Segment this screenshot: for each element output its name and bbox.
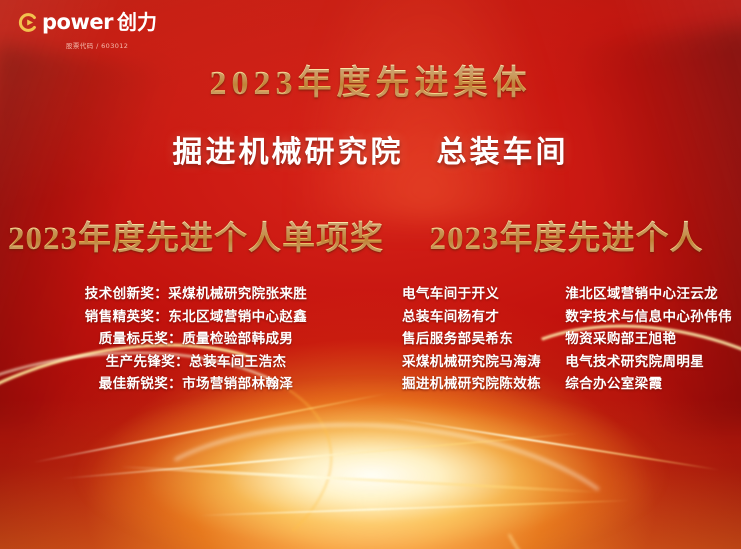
light-streak — [33, 393, 387, 464]
person-name: 电气技术研究院周明星 — [565, 351, 741, 374]
collective-winners: 掘进机械研究院 总装车间 — [0, 132, 741, 174]
winner-lists: 技术创新奖：采煤机械研究院张来胜 销售精英奖：东北区域营销中心赵鑫 质量标兵奖：… — [0, 283, 741, 396]
section-heading-right-wrap: 2023年度先进个人 — [392, 216, 741, 262]
glow-haze — [0, 399, 741, 549]
list-item: 质量标兵奖：质量检验部韩成男 — [0, 328, 392, 351]
list-item: 技术创新奖：采煤机械研究院张来胜 — [0, 283, 392, 306]
light-streak — [200, 499, 630, 516]
table-row: 电气车间于开义 淮北区域营销中心汪云龙 — [392, 283, 741, 306]
swirl-ribbon — [112, 407, 651, 549]
brand-wordmark-cn: 创力 — [117, 12, 157, 33]
list-item: 最佳新锐奖：市场营销部林翰泽 — [0, 373, 392, 396]
table-row: 总装车间杨有才 数字技术与信息中心孙伟伟 — [392, 306, 741, 329]
section-heading-left-wrap: 2023年度先进个人单项奖 — [0, 216, 392, 262]
page-title: 2023年度先进集体 — [0, 62, 741, 106]
individual-list: 电气车间于开义 淮北区域营销中心汪云龙 总装车间杨有才 数字技术与信息中心孙伟伟… — [392, 283, 741, 396]
person-name: 综合办公室梁霞 — [565, 373, 741, 396]
table-row: 掘进机械研究院陈效栋 综合办公室梁霞 — [392, 373, 741, 396]
section-heading-individual: 2023年度先进个人 — [392, 216, 741, 262]
person-name: 物资采购部王旭艳 — [565, 328, 741, 351]
c-arrow-logo-icon — [18, 12, 39, 33]
person-name: 总装车间杨有才 — [392, 306, 565, 329]
brand-logo-row: power 创力 — [18, 12, 157, 33]
award-list: 技术创新奖：采煤机械研究院张来胜 销售精英奖：东北区域营销中心赵鑫 质量标兵奖：… — [0, 283, 392, 396]
light-streak — [61, 432, 579, 479]
person-name: 掘进机械研究院陈效栋 — [392, 373, 565, 396]
section-heading-individual-awards: 2023年度先进个人单项奖 — [0, 216, 392, 262]
person-name: 淮北区域营销中心汪云龙 — [565, 283, 741, 306]
brand-wordmark: power — [42, 12, 113, 33]
person-name: 售后服务部吴希东 — [392, 328, 565, 351]
table-row: 采煤机械研究院马海涛 电气技术研究院周明星 — [392, 351, 741, 374]
person-name: 数字技术与信息中心孙伟伟 — [565, 306, 741, 329]
light-streak — [393, 417, 719, 471]
list-item: 生产先锋奖：总装车间王浩杰 — [0, 351, 392, 374]
person-name: 采煤机械研究院马海涛 — [392, 351, 565, 374]
table-row: 售后服务部吴希东 物资采购部王旭艳 — [392, 328, 741, 351]
light-streak — [120, 465, 599, 493]
list-item: 销售精英奖：东北区域营销中心赵鑫 — [0, 306, 392, 329]
brand-logo: power 创力 股票代码 / 603012 — [18, 12, 157, 50]
stock-code-label: 股票代码 / 603012 — [66, 40, 157, 50]
silk-glow-top — [296, 0, 556, 220]
slide-canvas: power 创力 股票代码 / 603012 2023年度先进集体 掘进机械研究… — [0, 0, 741, 549]
section-headings: 2023年度先进个人单项奖 2023年度先进个人 — [0, 216, 741, 262]
person-name: 电气车间于开义 — [392, 283, 565, 306]
